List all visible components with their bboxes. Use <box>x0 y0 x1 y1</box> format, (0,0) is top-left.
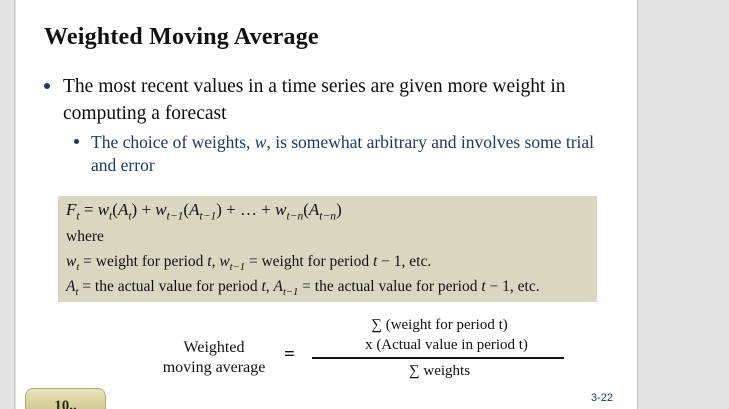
formula-label: Weighted moving average <box>144 338 284 378</box>
equals-sign: = <box>284 344 295 366</box>
fraction-body: ∑ (weight for period t) x (Actual value … <box>312 316 567 380</box>
actual-value-definition: At = the actual value for period t, At−1… <box>66 278 540 298</box>
slide-page-number: 3-22 <box>591 392 613 404</box>
weight-definition: wt = weight for period t, wt−1 = weight … <box>66 253 431 273</box>
bullet-item-level2: The choice of weights, w, is somewhat ar… <box>74 131 594 178</box>
fraction-denominator: ∑ weights <box>312 359 567 380</box>
weighted-moving-average-formula: Weighted moving average = ∑ (weight for … <box>144 316 584 388</box>
bullet-level2-text-before: The choice of weights, <box>91 132 255 152</box>
corner-tan-button[interactable]: 10.. <box>25 388 106 409</box>
numerator-line1: ∑ (weight for period t) <box>371 317 508 333</box>
bullet-item-level1: The most recent values in a time series … <box>44 74 604 127</box>
left-gutter <box>0 0 15 409</box>
corner-tan-button-label: 10.. <box>26 398 105 409</box>
numerator-line2: x (Actual value in period t) <box>312 336 567 356</box>
formula-label-line1: Weighted <box>184 339 245 356</box>
slide-canvas: Weighted Moving Average The most recent … <box>16 0 637 409</box>
main-equation: Ft = wt(At) + wt−1(At−1) + … + wt−n(At−n… <box>66 200 342 222</box>
page-title: Weighted Moving Average <box>44 24 319 51</box>
formula-panel: Ft = wt(At) + wt−1(At−1) + … + wt−n(At−n… <box>58 196 597 302</box>
fraction-numerator: ∑ (weight for period t) x (Actual value … <box>312 316 567 357</box>
bullet-dot-icon <box>44 83 50 89</box>
weight-symbol: w <box>255 132 267 152</box>
right-panel <box>637 0 729 409</box>
sub-bullet-dot-icon <box>74 139 79 144</box>
bullet-level2-label: The choice of weights, w, is somewhat ar… <box>91 131 594 178</box>
formula-label-line2: moving average <box>163 359 266 376</box>
presentation-viewport: Weighted Moving Average The most recent … <box>0 0 729 409</box>
bullet-level1-label: The most recent values in a time series … <box>63 74 604 127</box>
where-label: where <box>66 228 104 246</box>
